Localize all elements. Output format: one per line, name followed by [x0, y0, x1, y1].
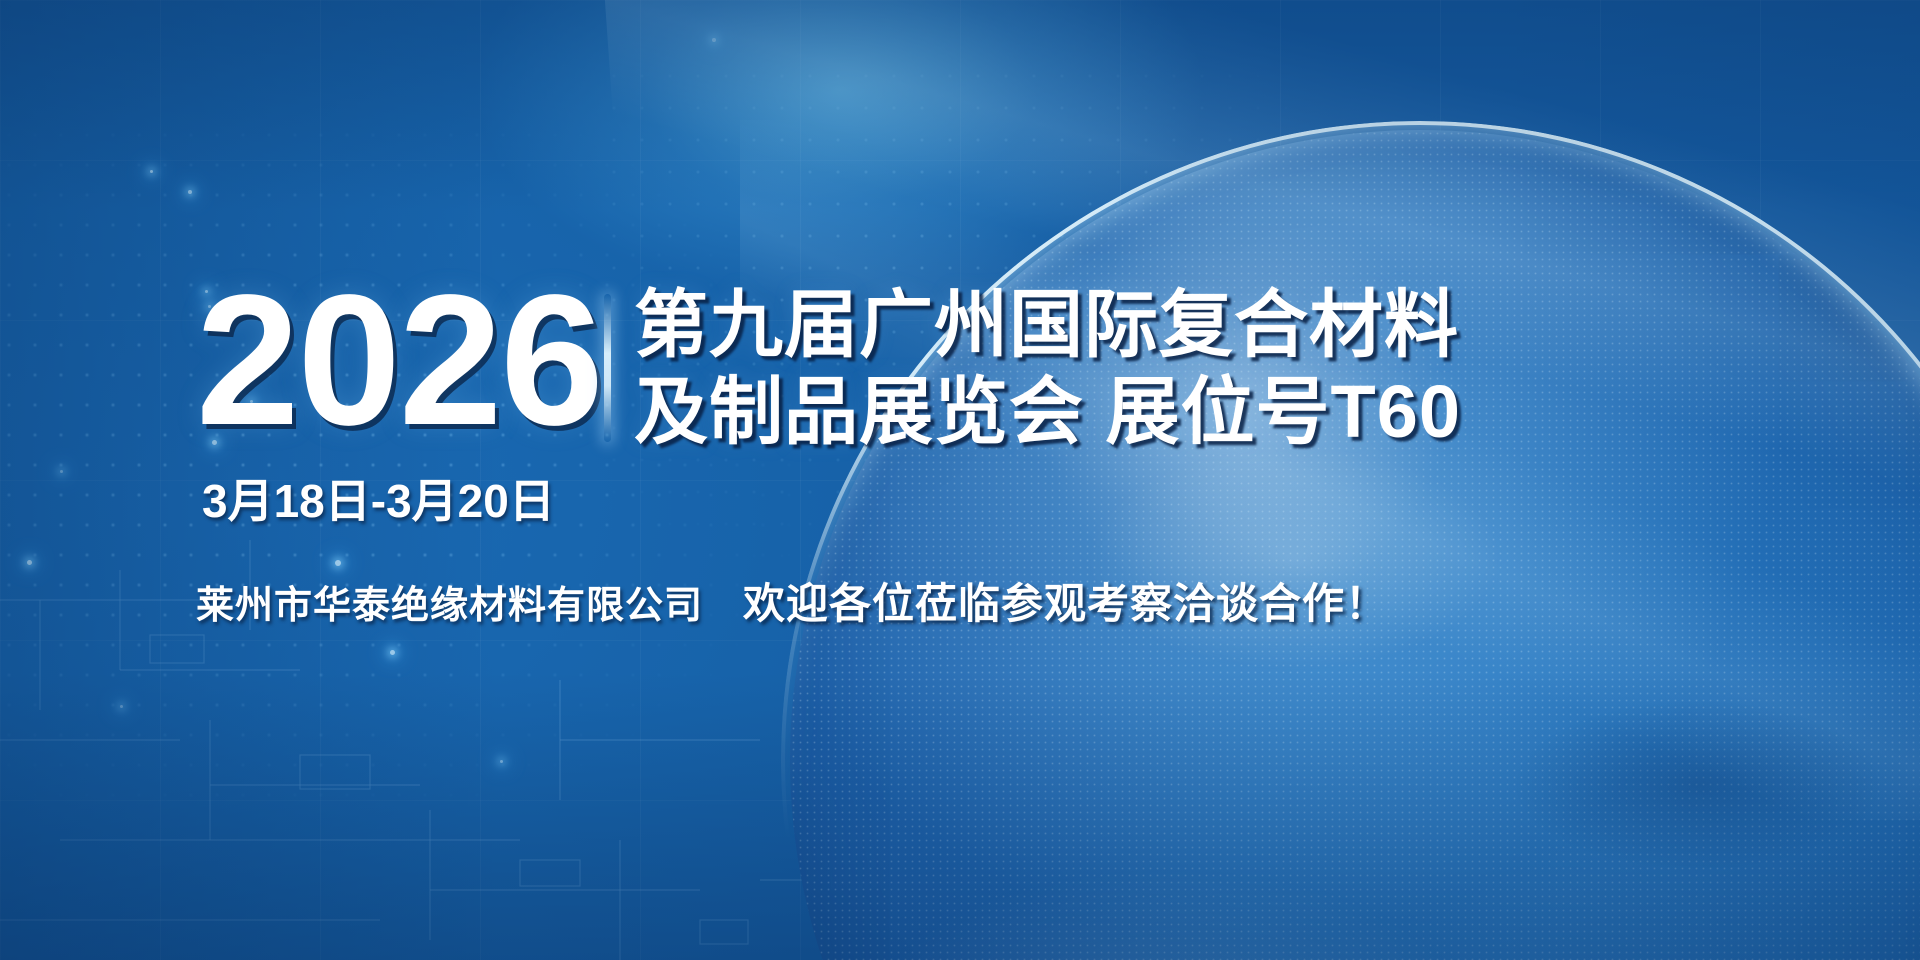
year-block: 2026 3月18日-3月20日 — [196, 272, 626, 531]
headline-line-2: 及制品展览会 展位号T60 — [634, 369, 1914, 456]
vertical-divider-bar — [604, 294, 611, 442]
headline-block: 第九届广州国际复合材料 及制品展览会 展位号T60 — [634, 282, 1914, 455]
company-name: 莱州市华泰绝缘材料有限公司 — [196, 574, 703, 629]
banner-content: 2026 3月18日-3月20日 第九届广州国际复合材料 及制品展览会 展位号T… — [0, 0, 1920, 960]
exhibition-banner: 2026 3月18日-3月20日 第九届广州国际复合材料 及制品展览会 展位号T… — [0, 0, 1920, 960]
welcome-message: 欢迎各位莅临参观考察洽谈合作！ — [743, 570, 1388, 631]
date-range: 3月18日-3月20日 — [202, 465, 626, 531]
year-number: 2026 — [196, 272, 626, 451]
headline-line-1: 第九届广州国际复合材料 — [634, 282, 1914, 369]
footer-line: 莱州市华泰绝缘材料有限公司 欢迎各位莅临参观考察洽谈合作！ — [196, 570, 1696, 631]
